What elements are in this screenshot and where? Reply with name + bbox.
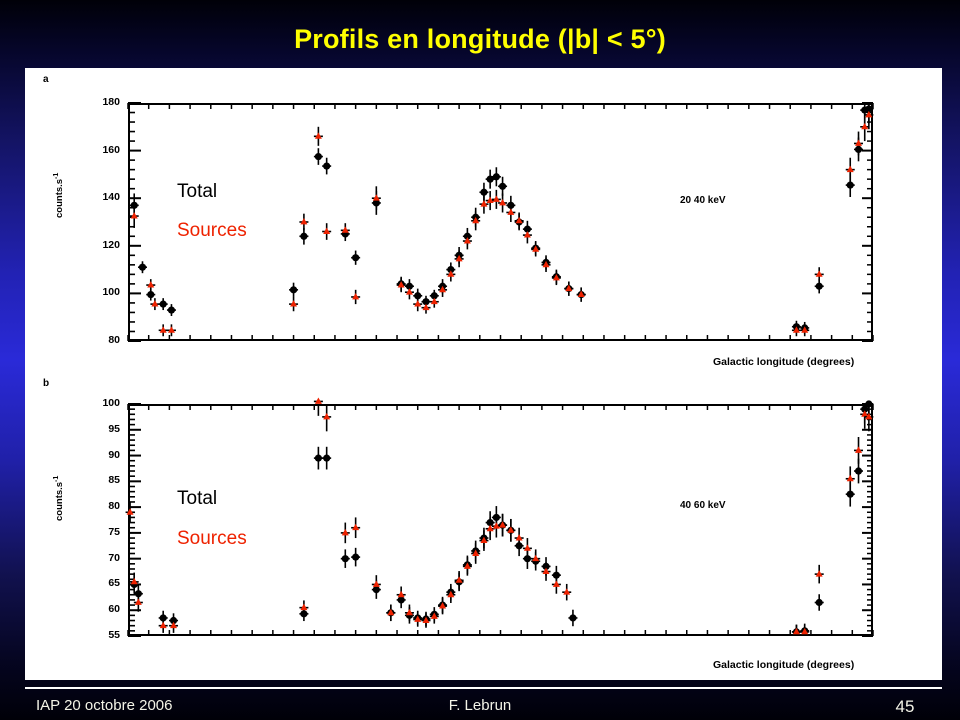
footer-author: F. Lebrun: [0, 697, 960, 714]
y-tick-label: 80: [80, 500, 120, 512]
figure-card: a counts.s-1 20 40 keV Total Sources Gal…: [25, 68, 942, 680]
series-total: [130, 103, 874, 334]
y-tick-label: 60: [80, 603, 120, 615]
y-tick-label: 75: [80, 526, 120, 538]
y-tick-label: 80: [80, 334, 120, 346]
slide: Profils en longitude (|b| < 5°) a counts…: [0, 0, 960, 720]
y-tick-label: 160: [80, 144, 120, 156]
y-tick-label: 180: [80, 96, 120, 108]
y-tick-label: 140: [80, 191, 120, 203]
y-tick-label: 55: [80, 629, 120, 641]
panel-a-plot-canvas: [25, 68, 942, 376]
panel-b-plot-canvas: [25, 376, 942, 680]
y-tick-label: 85: [80, 474, 120, 486]
y-tick-label: 95: [80, 423, 120, 435]
y-tick-label: 90: [80, 449, 120, 461]
y-tick-label: 100: [80, 397, 120, 409]
y-tick-label: 100: [80, 286, 120, 298]
series-sources: [130, 103, 874, 336]
slide-title: Profils en longitude (|b| < 5°): [0, 24, 960, 55]
y-tick-label: 120: [80, 239, 120, 251]
y-tick-label: 65: [80, 577, 120, 589]
y-tick-label: 70: [80, 552, 120, 564]
chart-panel-a: a counts.s-1 20 40 keV Total Sources Gal…: [25, 68, 942, 376]
series-total: [130, 400, 874, 636]
footer-page-number: 45: [880, 697, 930, 717]
footer-divider: [25, 687, 942, 689]
chart-panel-b: b counts.s-1 40 60 keV Total Sources Gal…: [25, 376, 942, 680]
